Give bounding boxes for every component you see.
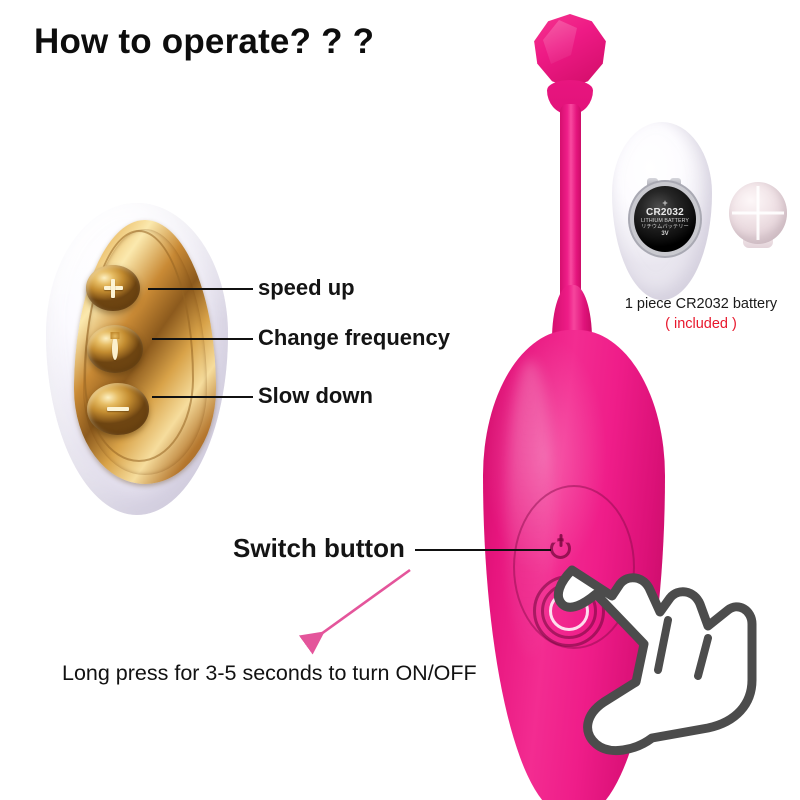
plus-icon xyxy=(104,279,123,298)
battery-model: CR2032 xyxy=(646,207,684,218)
battery-voltage: 3V xyxy=(661,230,668,238)
battery-illustration: + CR2032 LITHIUM BATTERY リチウムバッテリー 3V 1 … xyxy=(602,120,800,350)
how-to-operate-infographic: How to operate? ? ? speed up Change freq… xyxy=(0,0,800,800)
minus-icon xyxy=(107,407,129,411)
battery-included-note: ( included ) xyxy=(602,316,800,332)
pink-arrow xyxy=(288,560,423,660)
wireless-remote xyxy=(46,203,228,515)
hand-cursor-icon xyxy=(540,552,792,800)
remote-button-speed-up[interactable] xyxy=(86,265,140,311)
cr2032-coin-cell: + CR2032 LITHIUM BATTERY リチウムバッテリー 3V xyxy=(634,186,696,252)
page-title: How to operate? ? ? xyxy=(34,22,374,62)
leader-line-change-frequency xyxy=(152,338,253,340)
remote-button-change-frequency[interactable] xyxy=(87,325,143,373)
long-press-instruction: Long press for 3-5 seconds to turn ON/OF… xyxy=(62,661,477,686)
battery-contact-left xyxy=(647,178,658,185)
leader-line-speed-up xyxy=(148,288,253,290)
battery-polarity: + xyxy=(662,200,667,207)
power-icon xyxy=(112,341,118,357)
battery-caption: 1 piece CR2032 battery xyxy=(602,296,800,312)
leader-line-slow-down xyxy=(152,396,253,398)
battery-contact-right xyxy=(670,178,681,185)
label-slow-down: Slow down xyxy=(258,383,373,409)
battery-cover-cap xyxy=(729,182,787,244)
leader-line-switch-button xyxy=(415,549,551,551)
label-speed-up: speed up xyxy=(258,275,355,301)
remote-button-slow-down[interactable] xyxy=(87,383,149,435)
label-change-frequency: Change frequency xyxy=(258,325,450,351)
